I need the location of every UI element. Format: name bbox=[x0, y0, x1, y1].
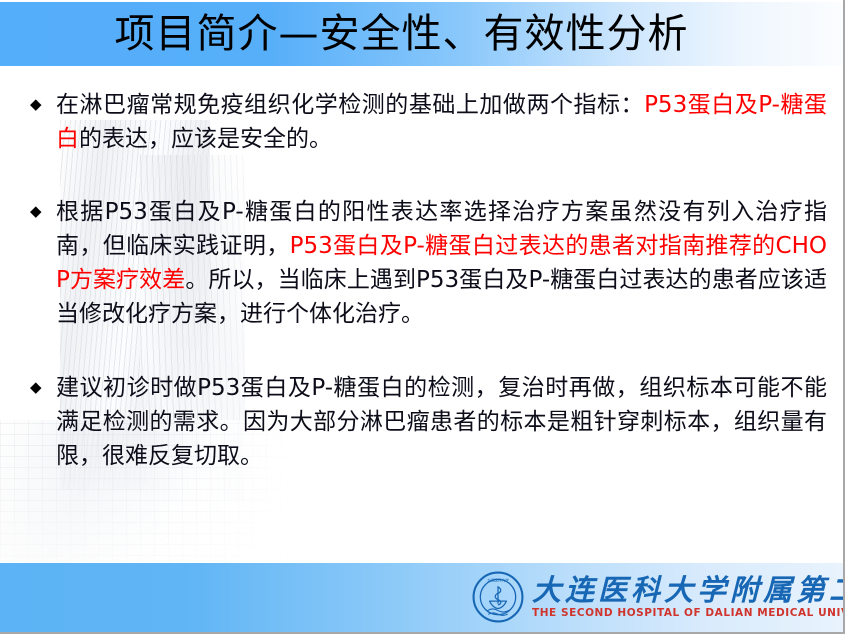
bullet-diamond-icon: ◆ bbox=[30, 195, 56, 227]
slide-title: 项目简介—安全性、有效性分析 bbox=[115, 14, 729, 54]
bullet-3-run-1: 建议初诊时做P53蛋白及P-糖蛋白的检测，复治时再做，组织标本可能不能满足检测的… bbox=[56, 375, 827, 469]
bullet-diamond-icon: ◆ bbox=[30, 371, 56, 403]
hospital-name-chinese: 大连医科大学附属第二医院 bbox=[532, 574, 845, 607]
slide-body: ◆ 在淋巴瘤常规免疫组织化学检测的基础上加做两个指标：P53蛋白及P-糖蛋白的表… bbox=[0, 66, 843, 563]
bullet-text-3: 建议初诊时做P53蛋白及P-糖蛋白的检测，复治时再做，组织标本可能不能满足检测的… bbox=[56, 371, 827, 473]
bullet-diamond-icon: ◆ bbox=[30, 88, 56, 120]
bullet-text-2: 根据P53蛋白及P-糖蛋白的阳性表达率选择治疗方案虽然没有列入治疗指南，但临床实… bbox=[56, 195, 827, 331]
bullet-item-2: ◆ 根据P53蛋白及P-糖蛋白的阳性表达率选择治疗方案虽然没有列入治疗指南，但临… bbox=[0, 195, 843, 331]
hospital-logo-text: 大连医科大学附属第二医院 THE SECOND HOSPITAL OF DALI… bbox=[532, 574, 845, 620]
hospital-circular-emblem-icon: 大连医科大学 bbox=[472, 571, 524, 623]
bullet-item-1: ◆ 在淋巴瘤常规免疫组织化学检测的基础上加做两个指标：P53蛋白及P-糖蛋白的表… bbox=[0, 88, 843, 156]
bullet-text-1: 在淋巴瘤常规免疫组织化学检测的基础上加做两个指标：P53蛋白及P-糖蛋白的表达，… bbox=[56, 88, 827, 156]
slide-title-bar: 项目简介—安全性、有效性分析 bbox=[0, 2, 843, 66]
hospital-name-english: THE SECOND HOSPITAL OF DALIAN MEDICAL UN… bbox=[532, 607, 845, 620]
svg-text:大连医科大学: 大连医科大学 bbox=[487, 577, 509, 582]
presentation-slide: 项目简介—安全性、有效性分析 ◆ 在淋巴瘤常规免疫组织化学检测的基础上加做两个指… bbox=[0, 0, 845, 634]
bullet-item-3: ◆ 建议初诊时做P53蛋白及P-糖蛋白的检测，复治时再做，组织标本可能不能满足检… bbox=[0, 371, 843, 473]
hospital-logo: 大连医科大学 大连医科大学附属第二医院 THE SECOND HOSPITAL … bbox=[472, 569, 845, 625]
bullet-1-run-3: 的表达，应该是安全的。 bbox=[79, 126, 332, 152]
bullet-1-run-1: 在淋巴瘤常规免疫组织化学检测的基础上加做两个指标： bbox=[56, 92, 644, 118]
